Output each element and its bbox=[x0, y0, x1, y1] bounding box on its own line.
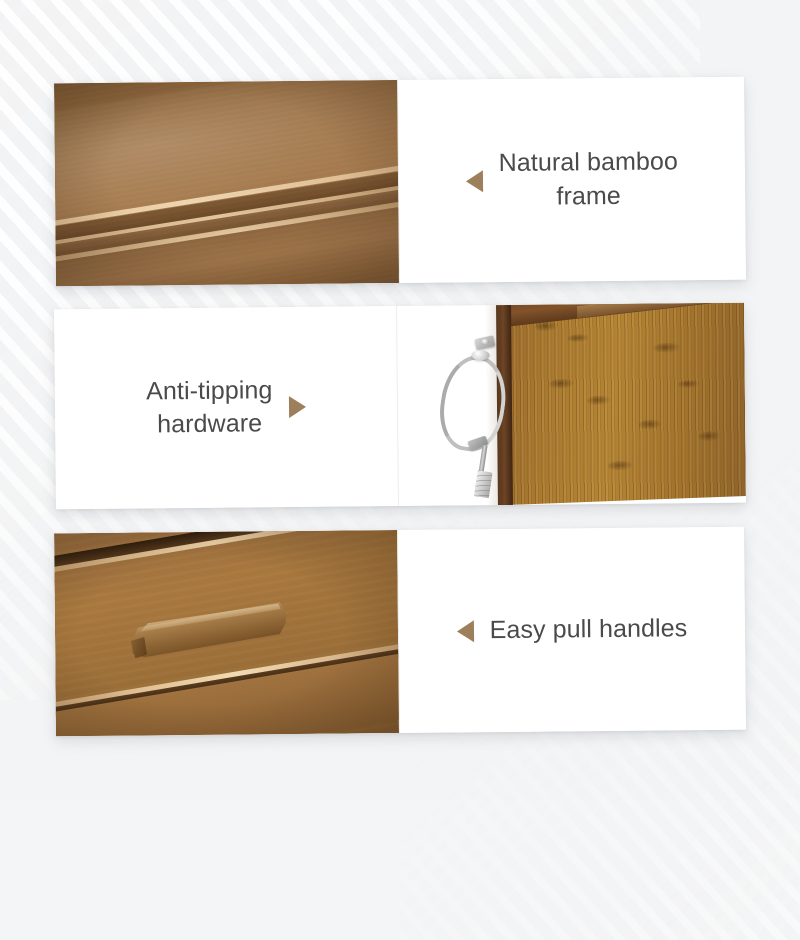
feature-card-natural-bamboo-frame[interactable]: Natural bamboo frame bbox=[54, 77, 746, 287]
bamboo-node-mark bbox=[653, 342, 679, 353]
feature-photo-anti-tipping-hardware bbox=[397, 303, 746, 506]
bamboo-node-mark bbox=[697, 431, 721, 442]
photo-vignette bbox=[54, 530, 399, 736]
bamboo-node-mark bbox=[587, 395, 611, 406]
triangle-left-icon bbox=[466, 170, 483, 192]
feature-photo-natural-bamboo-frame bbox=[54, 80, 399, 286]
feature-text-pane-3: Easy pull handles bbox=[397, 527, 746, 733]
triangle-left-icon bbox=[457, 620, 474, 642]
feature-photo-easy-pull-handles bbox=[54, 530, 399, 736]
feature-label-row-1: Natural bamboo frame bbox=[448, 145, 697, 214]
anti-tip-strap-image bbox=[397, 303, 746, 506]
feature-label-natural-bamboo-frame: Natural bamboo frame bbox=[499, 145, 679, 214]
bamboo-side-panel bbox=[505, 303, 746, 505]
feature-label-easy-pull-handles: Easy pull handles bbox=[489, 612, 687, 647]
feature-label-row-3: Easy pull handles bbox=[438, 612, 705, 648]
feature-card-anti-tipping-hardware[interactable]: Anti-tipping hardware bbox=[54, 303, 746, 510]
feature-text-pane-2: Anti-tipping hardware bbox=[54, 306, 399, 509]
bamboo-node-mark bbox=[607, 460, 633, 471]
bamboo-node-mark bbox=[567, 334, 589, 343]
bamboo-tabletop-image bbox=[54, 80, 399, 286]
feature-label-anti-tipping-hardware: Anti-tipping hardware bbox=[146, 374, 273, 442]
feature-label-row-2: Anti-tipping hardware bbox=[128, 373, 324, 442]
feature-text-pane-1: Natural bamboo frame bbox=[397, 77, 746, 283]
triangle-right-icon bbox=[289, 396, 306, 418]
bamboo-node-mark bbox=[637, 419, 661, 430]
bamboo-node-mark bbox=[678, 380, 700, 389]
feature-card-easy-pull-handles[interactable]: Easy pull handles bbox=[54, 527, 746, 737]
photo-vignette bbox=[54, 80, 399, 286]
drawer-handle-image bbox=[54, 530, 399, 736]
bamboo-node-mark bbox=[548, 378, 574, 389]
